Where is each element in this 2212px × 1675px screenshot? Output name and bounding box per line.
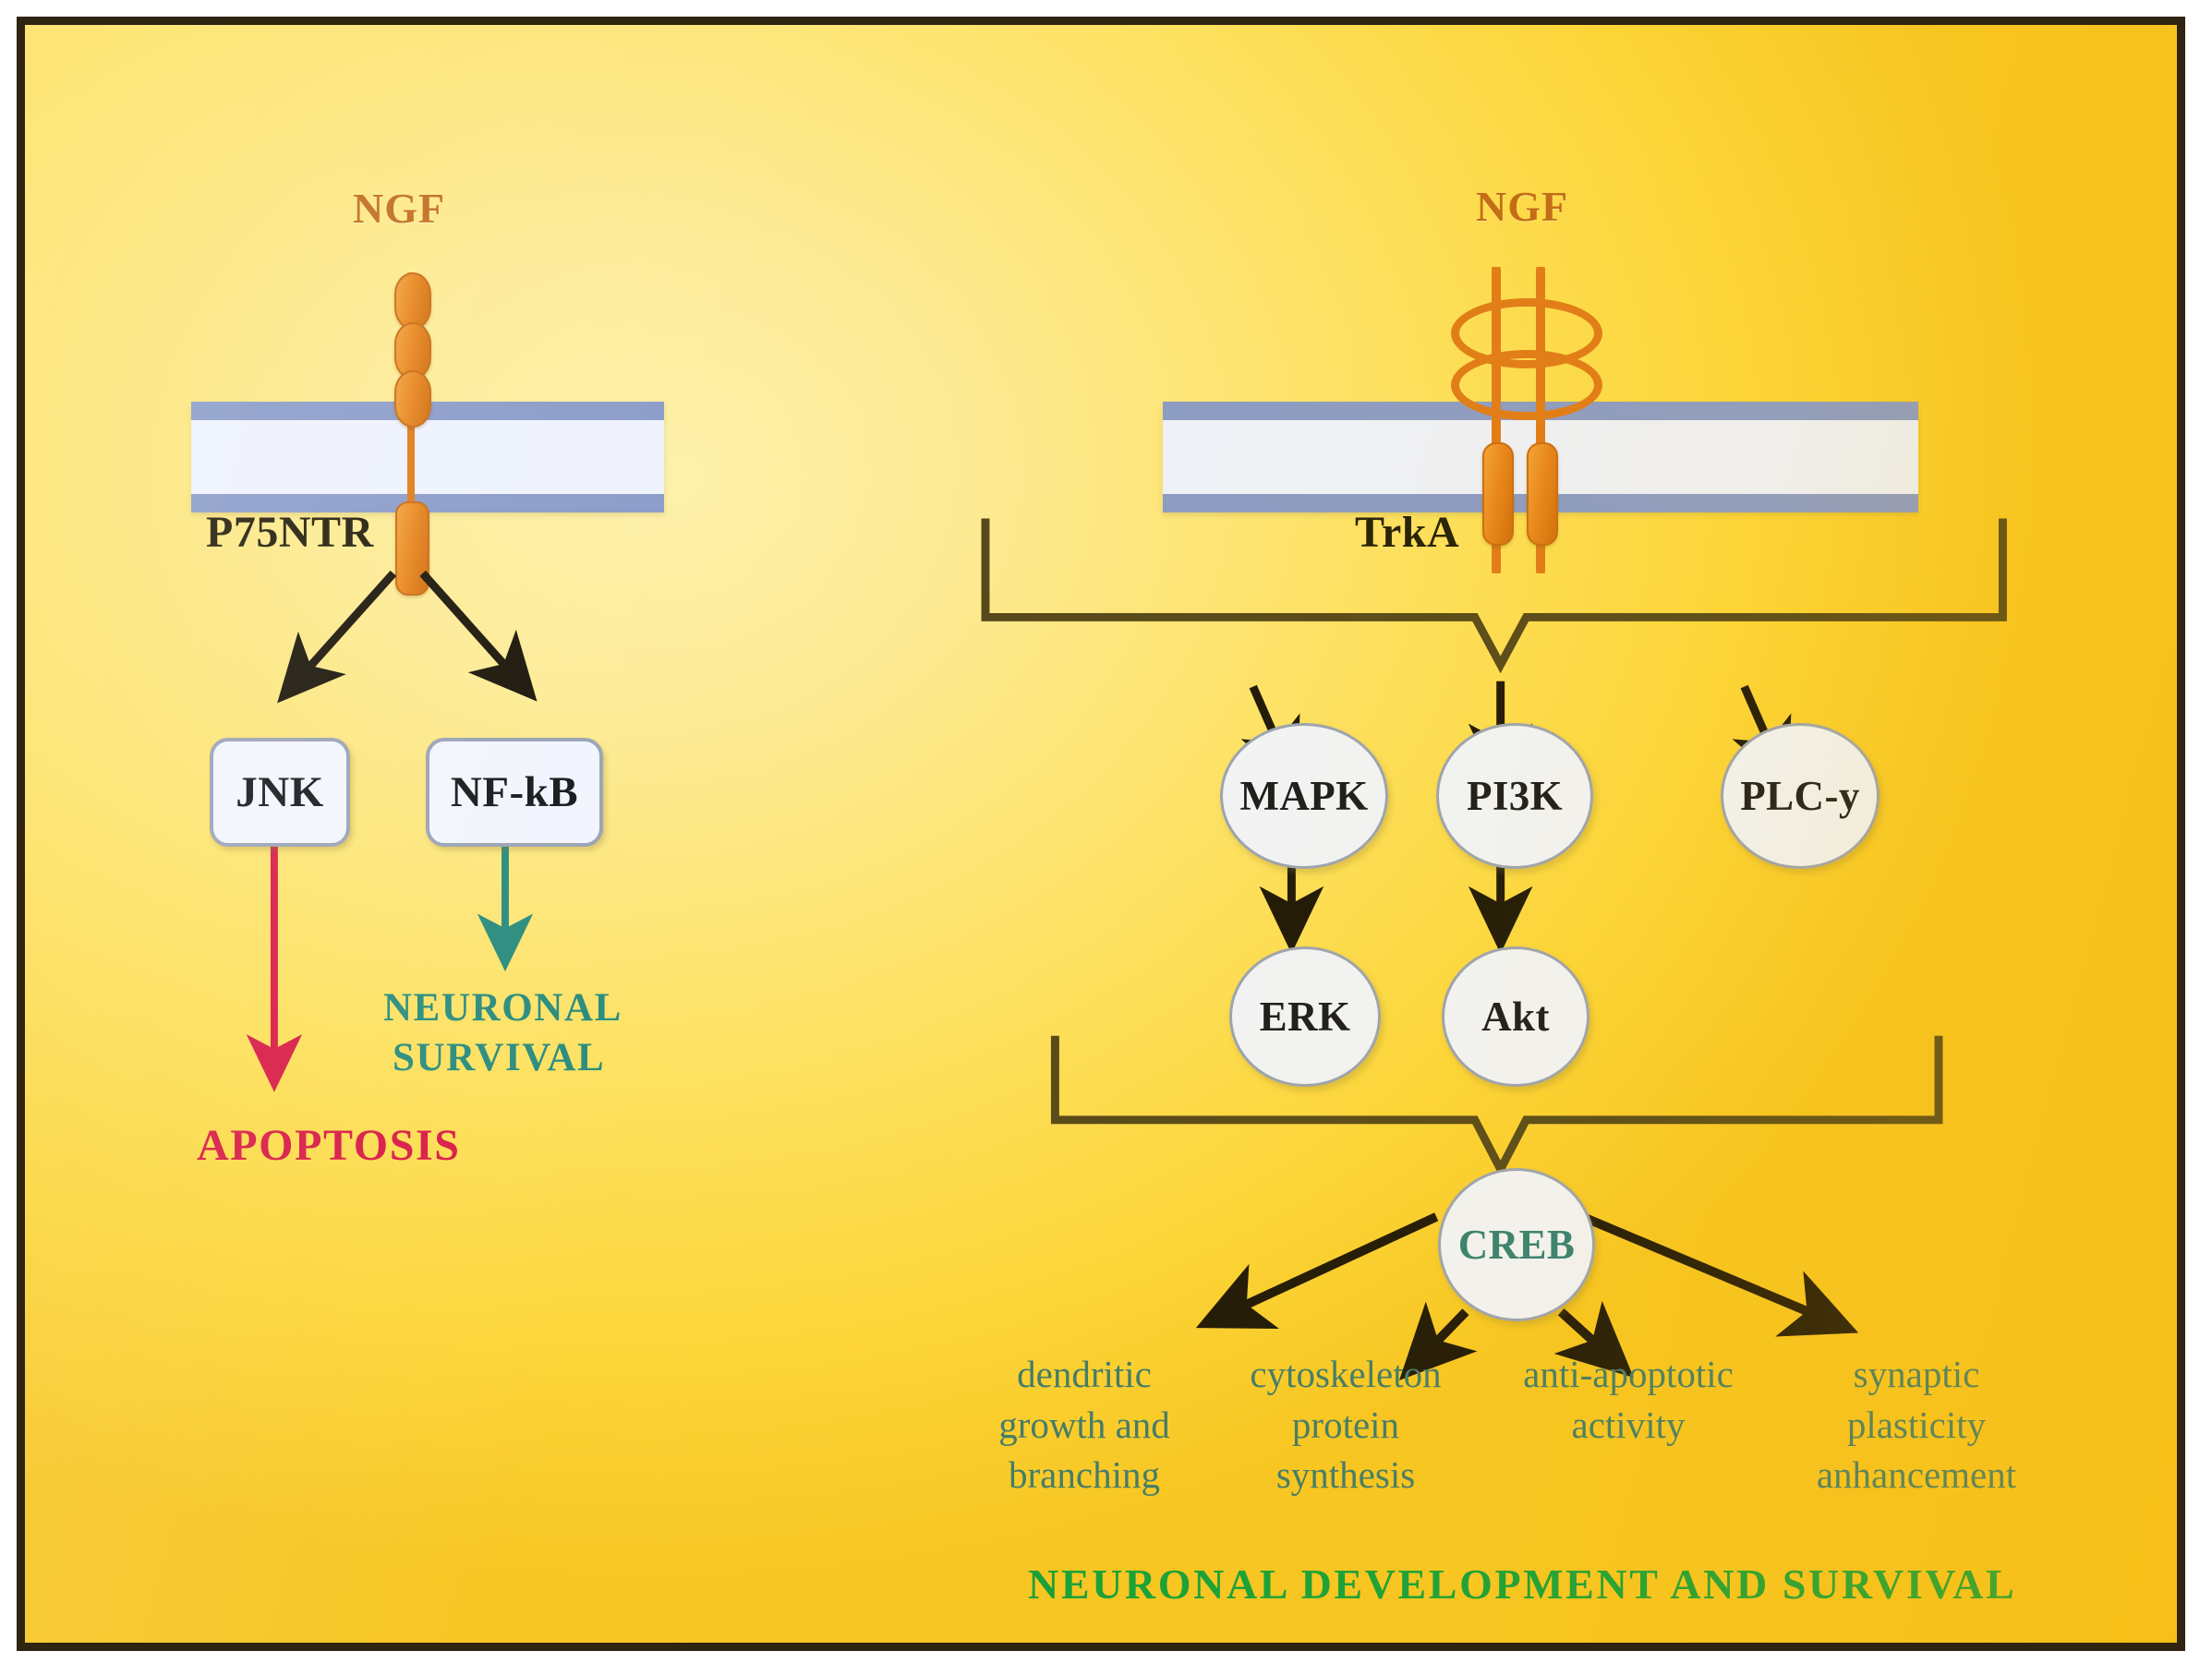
node-erk-label: ERK [1260, 993, 1351, 1041]
node-mapk-label: MAPK [1239, 772, 1368, 820]
outcome-neuronal-survival-line2: SURVIVAL [393, 1037, 605, 1079]
outcome-anti-apoptotic: anti-apoptotic activity [1492, 1349, 1765, 1450]
outcome-cytoskeleton-line-2: protein [1216, 1400, 1475, 1451]
node-plcy-label: PLC-y [1740, 772, 1860, 820]
node-pi3k-label: PI3K [1467, 772, 1563, 820]
outcome-cytoskeleton-line-1: cytoskeleton [1216, 1349, 1475, 1400]
node-akt[interactable]: Akt [1442, 946, 1589, 1087]
diagram-frame: NGF P75NTR NGF TrkA [17, 17, 2185, 1651]
outcome-dendritic-line-1: dendritic [969, 1349, 1200, 1400]
banner-neuronal-development: NEURONAL DEVELOPMENT AND SURVIVAL [1028, 1561, 2016, 1608]
outcome-synaptic-line-3: anhancement [1769, 1450, 2064, 1500]
outcome-synaptic-line-2: plasticity [1769, 1400, 2064, 1451]
outcome-synaptic-line-1: synaptic [1769, 1349, 2064, 1400]
node-nfkb[interactable]: NF-kB [426, 738, 603, 847]
node-mapk[interactable]: MAPK [1220, 723, 1388, 869]
outcome-antiapoptotic-line-2: activity [1492, 1400, 1765, 1451]
outcome-synaptic-plasticity: synaptic plasticity anhancement [1769, 1349, 2064, 1500]
node-plcy[interactable]: PLC-y [1721, 723, 1880, 869]
outcome-dendritic-growth: dendritic growth and branching [969, 1349, 1200, 1500]
outcome-dendritic-line-3: branching [969, 1450, 1200, 1500]
outcome-cytoskeleton-line-3: synthesis [1216, 1450, 1475, 1500]
arrow-creb-to-synaptic [1574, 1213, 1843, 1327]
outcome-antiapoptotic-line-1: anti-apoptotic [1492, 1349, 1765, 1400]
node-nfkb-label: NF-kB [451, 767, 578, 817]
arrow-p75-to-jnk [287, 573, 393, 693]
outcome-cytoskeleton-protein: cytoskeleton protein synthesis [1216, 1349, 1475, 1500]
bracket-trka-distribution [985, 519, 2002, 665]
arrow-creb-to-dendritic [1211, 1217, 1436, 1321]
outcome-neuronal-survival-line1: NEURONAL [383, 987, 623, 1030]
figure-root: NGF P75NTR NGF TrkA [0, 0, 2212, 1675]
node-creb[interactable]: CREB [1438, 1168, 1595, 1321]
node-jnk[interactable]: JNK [210, 738, 350, 847]
node-creb-label: CREB [1458, 1221, 1576, 1269]
outcome-apoptosis: APOPTOSIS [197, 1122, 461, 1170]
node-pi3k[interactable]: PI3K [1436, 723, 1593, 869]
outcome-dendritic-line-2: growth and [969, 1400, 1200, 1451]
arrow-p75-to-nfkb [423, 573, 527, 691]
node-akt-label: Akt [1481, 993, 1550, 1041]
node-erk[interactable]: ERK [1229, 946, 1381, 1087]
node-jnk-label: JNK [236, 767, 324, 817]
